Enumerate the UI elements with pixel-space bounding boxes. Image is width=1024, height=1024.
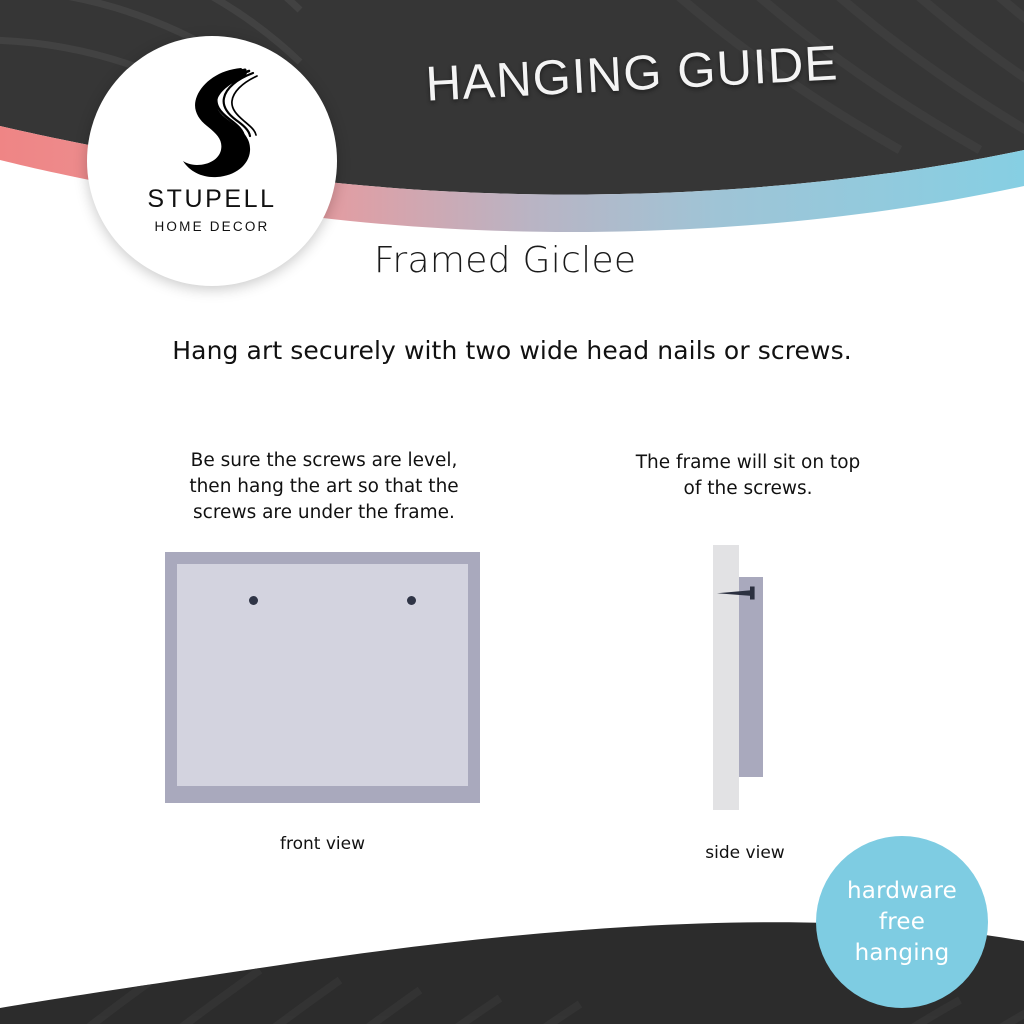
front-view-caption-line-2: then hang the art so that the — [160, 474, 488, 500]
badge-line-3: hanging — [855, 938, 950, 969]
nail-side-icon — [717, 586, 761, 600]
front-view-mat — [177, 564, 468, 786]
page-title: HANGING GUIDE — [371, 32, 893, 115]
screw-dot-left-icon — [249, 596, 258, 605]
logo-wordmark: STUPELL — [147, 187, 276, 212]
stupell-swoosh-icon — [157, 62, 267, 180]
side-view-label: side view — [645, 843, 845, 863]
side-view-wall — [713, 545, 739, 810]
side-view-caption-line-2: of the screws. — [598, 476, 898, 502]
lead-instruction-text: Hang art securely with two wide head nai… — [0, 336, 1024, 365]
side-view-frame — [739, 577, 763, 777]
hanging-guide-page: STUPELL HOME DECOR HANGING GUIDE Framed … — [0, 0, 1024, 1024]
screw-dot-right-icon — [407, 596, 416, 605]
badge-line-1: hardware — [847, 876, 957, 907]
product-type-heading: Framed Giclee — [374, 240, 636, 281]
side-view-caption: The frame will sit on top of the screws. — [598, 450, 898, 502]
front-view-caption-line-1: Be sure the screws are level, — [160, 448, 488, 474]
hardware-free-hanging-badge: hardware free hanging — [816, 836, 988, 1008]
front-view-caption: Be sure the screws are level, then hang … — [160, 448, 488, 526]
stupell-logo-badge: STUPELL HOME DECOR — [87, 36, 337, 286]
front-view-frame-diagram — [165, 552, 480, 803]
side-view-caption-line-1: The frame will sit on top — [598, 450, 898, 476]
side-view-frame-diagram — [705, 545, 785, 810]
front-view-label: front view — [165, 834, 480, 854]
logo-tagline: HOME DECOR — [154, 220, 269, 234]
front-view-caption-line-3: screws are under the frame. — [160, 500, 488, 526]
badge-line-2: free — [879, 907, 925, 938]
